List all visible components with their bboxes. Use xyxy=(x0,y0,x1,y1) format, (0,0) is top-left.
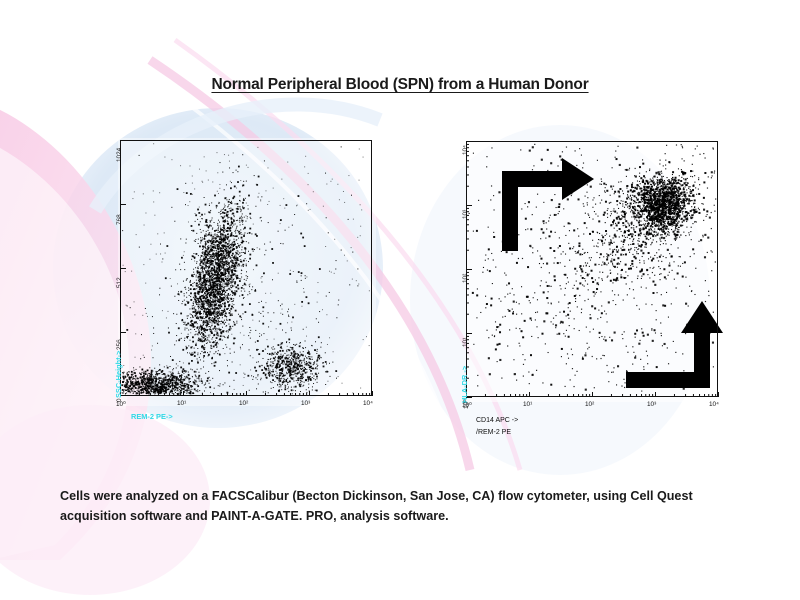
right-y-axis-title: HLA-DR -> xyxy=(460,366,469,403)
right-xtick-3: 10³ xyxy=(647,401,656,408)
left-plot: 1024 768 512 256 0 10⁰ 10¹ 10² 10³ 10⁴ S… xyxy=(120,140,380,408)
right-ytick-1e1: 10¹ xyxy=(462,338,469,347)
left-xtick-1: 10¹ xyxy=(177,400,186,407)
right-plot: 10⁴ 10³ 10² 10¹ 10⁰ 10⁰ 10¹ 10² 10³ 10⁴ … xyxy=(466,141,726,406)
left-ytick-512: 512 xyxy=(116,277,123,288)
right-ytick-1e4: 10⁴ xyxy=(462,145,469,155)
figure-caption: Cells were analyzed on a FACSCalibur (Be… xyxy=(60,487,750,526)
left-xtick-4: 10⁴ xyxy=(363,400,373,407)
caption-line-1: Cells were analyzed on a FACSCalibur (Be… xyxy=(60,487,750,507)
left-xtick-0: 10⁰ xyxy=(116,400,126,408)
left-x-axis-title: REM-2 PE-> xyxy=(131,412,173,421)
right-xtick-1: 10¹ xyxy=(523,401,532,408)
left-xtick-3: 10³ xyxy=(301,400,310,407)
left-y-axis-title: SSC-Height-> xyxy=(114,351,123,398)
left-plot-frame xyxy=(120,140,372,396)
left-ytick-1024: 1024 xyxy=(116,148,123,162)
caption-line-2: acquisition software and PAINT-A-GATE. P… xyxy=(60,507,750,527)
right-x-axis-title: CD14 APC -> xyxy=(476,417,518,424)
right-x-axis-title-2: /REM-2 PE xyxy=(476,429,511,436)
figure-stage: Normal Peripheral Blood (SPN) from a Hum… xyxy=(0,0,800,600)
right-xtick-2: 10² xyxy=(585,401,594,408)
left-ytick-256: 256 xyxy=(116,339,123,350)
right-plot-frame xyxy=(466,141,718,397)
left-xtick-2: 10² xyxy=(239,400,248,407)
left-ytick-768: 768 xyxy=(116,214,123,225)
right-xtick-4: 10⁴ xyxy=(709,401,719,408)
right-ytick-1e3: 10³ xyxy=(462,210,469,219)
figure-title: Normal Peripheral Blood (SPN) from a Hum… xyxy=(0,76,800,94)
right-ytick-1e2: 10² xyxy=(462,274,469,283)
